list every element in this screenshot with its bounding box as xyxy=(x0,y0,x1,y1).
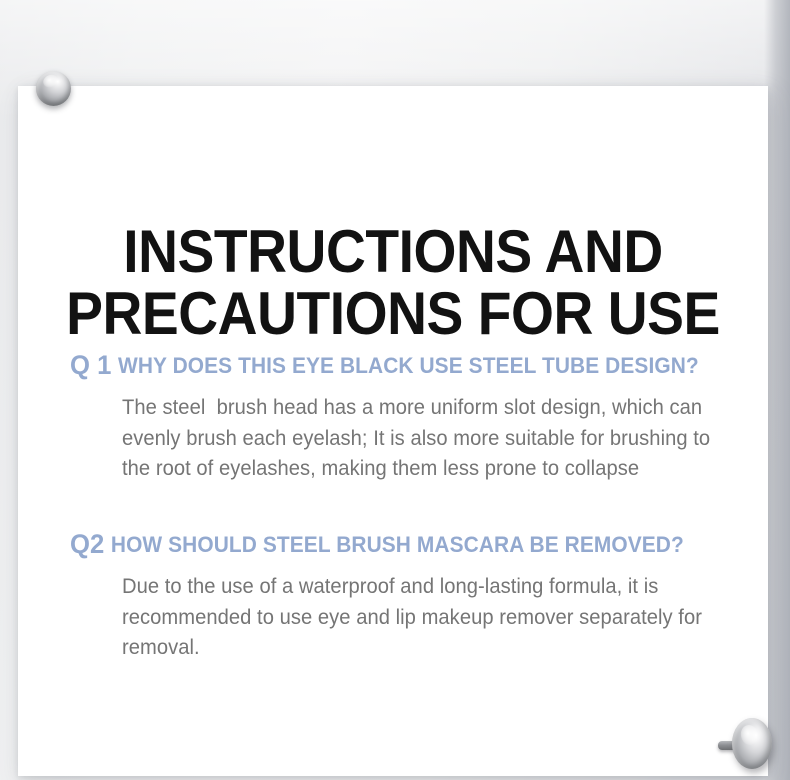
magnet-oval-head-icon xyxy=(732,718,772,769)
faq-item: Q 1WHY DOES THIS EYE BLACK USE STEEL TUB… xyxy=(70,351,742,506)
page-title: INSTRUCTIONS AND PRECAUTIONS FOR USE xyxy=(48,221,738,345)
magnet-round-icon xyxy=(36,71,71,106)
faq-answer-text: Due to the use of a waterproof and long-… xyxy=(122,572,717,665)
faq-question-tag: Q 1 xyxy=(70,350,111,380)
instruction-card: INSTRUCTIONS AND PRECAUTIONS FOR USE Q 1… xyxy=(18,86,768,776)
faq-question-text: WHY DOES THIS EYE BLACK USE STEEL TUBE D… xyxy=(118,353,699,378)
faq-question-heading: Q 1WHY DOES THIS EYE BLACK USE STEEL TUB… xyxy=(70,351,708,381)
faq-question-heading: Q2HOW SHOULD STEEL BRUSH MASCARA BE REMO… xyxy=(70,530,708,560)
faq-item: Q2HOW SHOULD STEEL BRUSH MASCARA BE REMO… xyxy=(70,530,742,685)
magnet-oval-icon xyxy=(716,714,778,772)
faq-question-text: HOW SHOULD STEEL BRUSH MASCARA BE REMOVE… xyxy=(111,532,684,557)
card-content: INSTRUCTIONS AND PRECAUTIONS FOR USE Q 1… xyxy=(18,86,768,776)
faq-question-tag: Q2 xyxy=(70,529,104,559)
poster-stage: INSTRUCTIONS AND PRECAUTIONS FOR USE Q 1… xyxy=(0,0,790,780)
faq-answer-text: The steel brush head has a more uniform … xyxy=(122,393,717,486)
